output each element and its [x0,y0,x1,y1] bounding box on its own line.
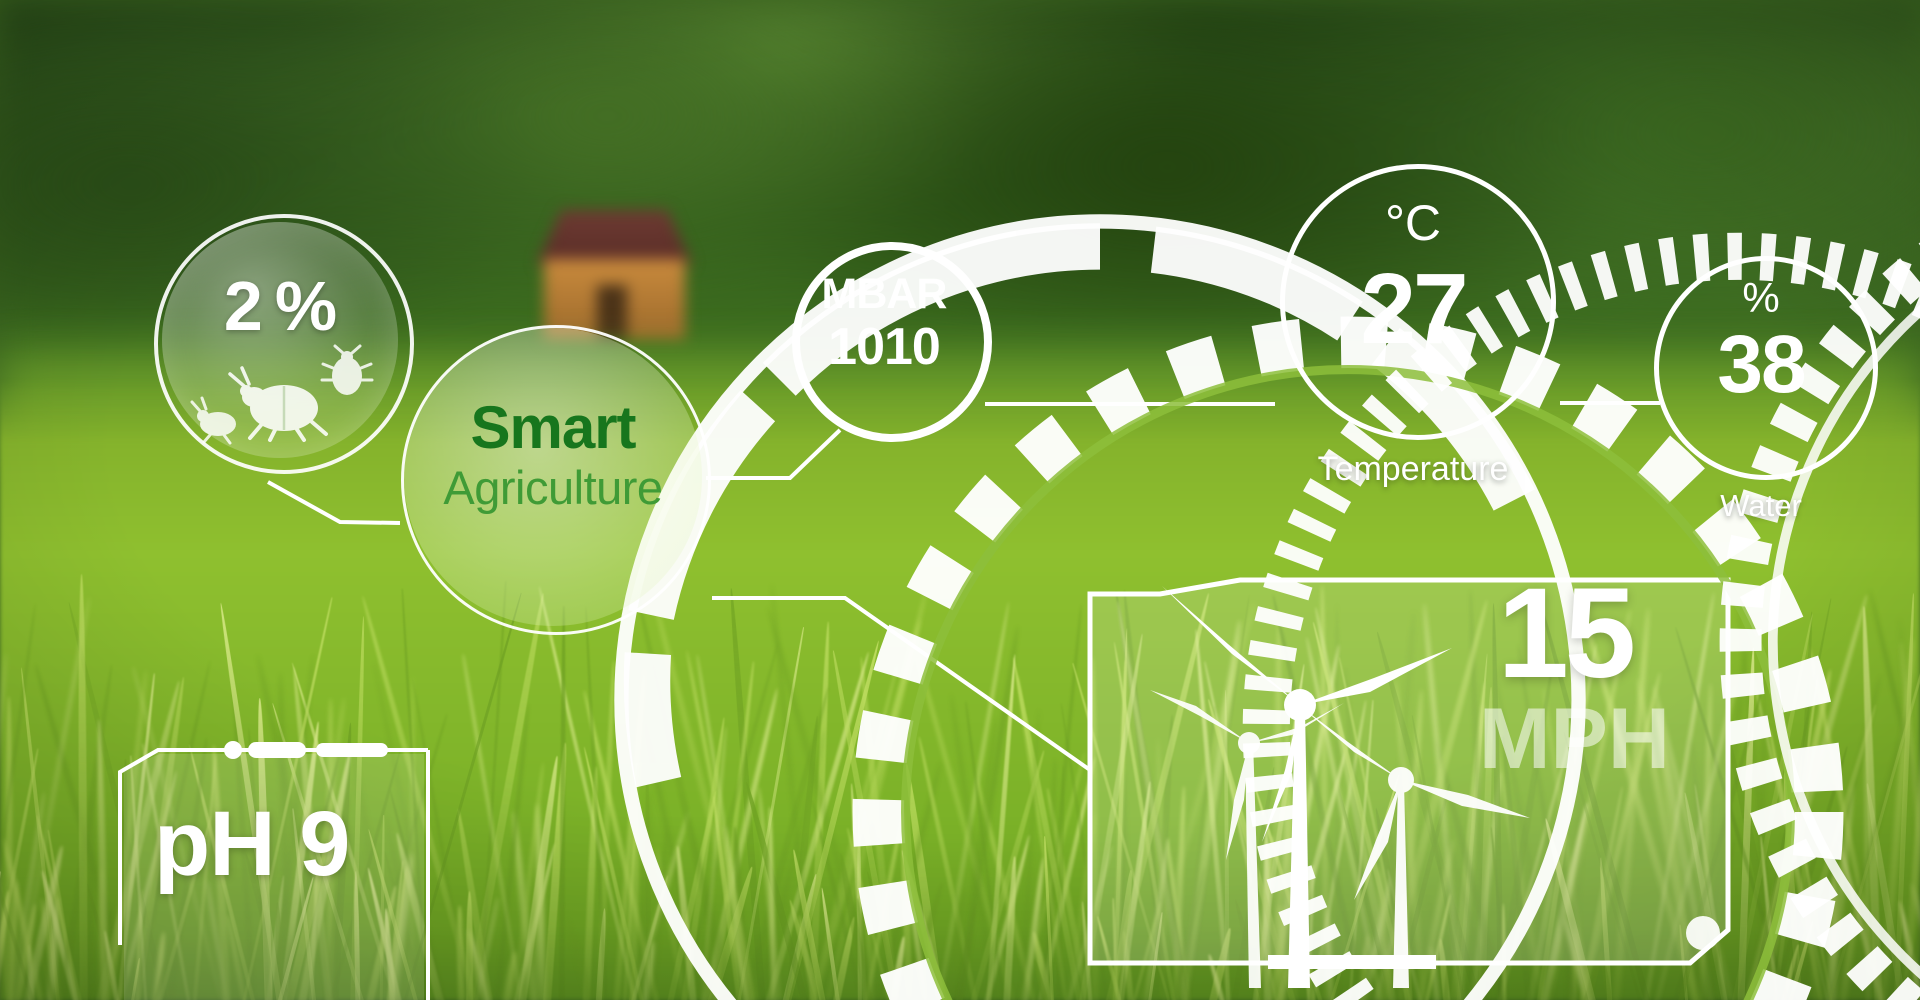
pressure-unit: MBAR [778,270,990,319]
temperature-value: 27 [1258,252,1568,367]
pest-widget[interactable]: 2 % [140,200,420,480]
water-widget[interactable]: % 38 Water [1636,238,1886,568]
pressure-widget[interactable]: MBAR 1010 [778,228,990,440]
temperature-widget[interactable]: °C 27 Temperature [1258,142,1568,522]
ph-label: pH [154,793,275,895]
ph-readout: pH 9 [154,792,349,897]
water-value: 38 [1636,318,1886,412]
wind-value: 15 [1498,560,1632,707]
temperature-unit: °C [1258,194,1568,252]
ph-value: 9 [299,793,349,895]
pressure-value: 1010 [778,317,990,377]
water-caption: Water [1636,488,1886,524]
water-unit: % [1636,274,1886,322]
temperature-caption: Temperature [1258,450,1568,489]
insect-icon [192,350,372,440]
smart-label: Smart Agriculture [388,398,718,511]
wind-unit: MPH [1479,690,1670,789]
pest-value: 2 % [140,266,420,346]
brand-line-1: Smart [388,398,718,458]
smart-agriculture-widget[interactable]: Smart Agriculture [388,312,718,642]
wind-widget[interactable]: 15 MPH [1140,570,1760,1000]
brand-line-2: Agriculture [388,464,718,511]
screenshot-root: 2 % [0,0,1920,1000]
ph-widget[interactable]: pH 9 [120,750,440,1000]
hud-overlay: 2 % [0,0,1920,1000]
